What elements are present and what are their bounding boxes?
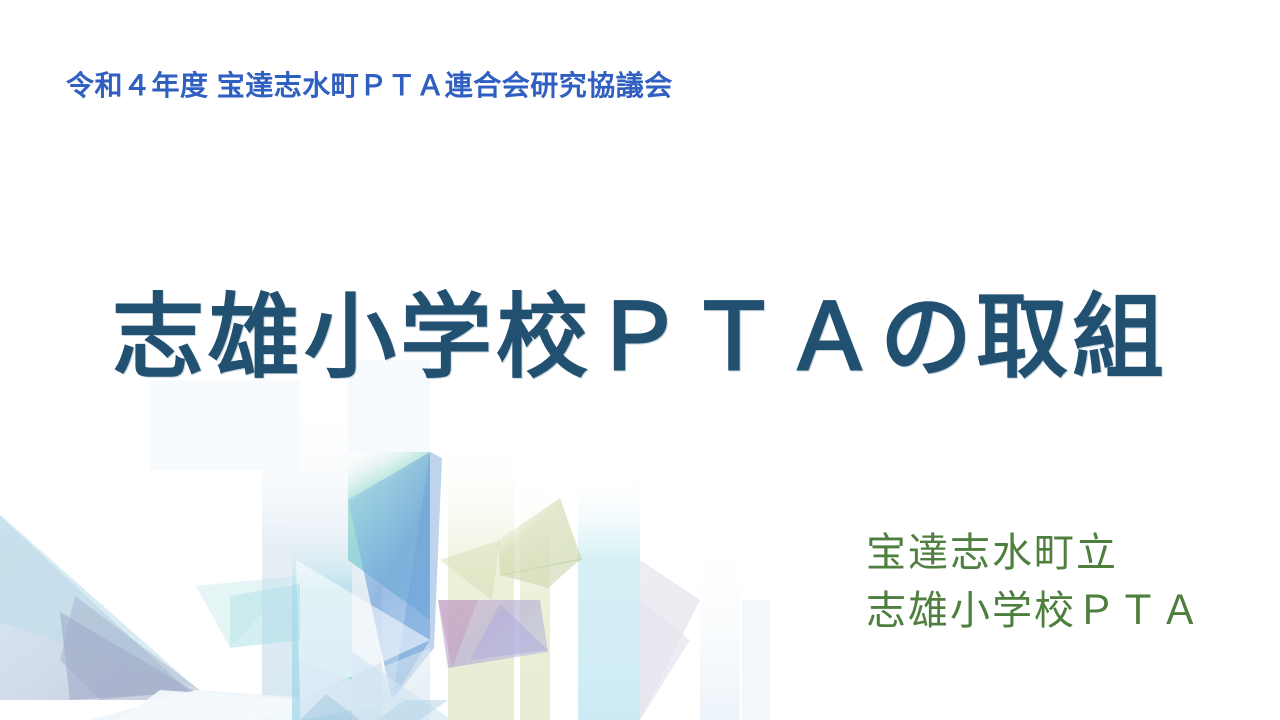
affiliation-block: 宝達志水町立 志雄小学校ＰＴＡ <box>866 524 1202 640</box>
affiliation-line-2: 志雄小学校ＰＴＡ <box>866 582 1202 640</box>
slide-content: 令和４年度 宝達志水町ＰＴＡ連合会研究協議会 志雄小学校ＰＴＡの取組 宝達志水町… <box>0 0 1280 720</box>
title-slide: 令和４年度 宝達志水町ＰＴＡ連合会研究協議会 志雄小学校ＰＴＡの取組 宝達志水町… <box>0 0 1280 720</box>
event-subtitle: 令和４年度 宝達志水町ＰＴＡ連合会研究協議会 <box>66 68 673 103</box>
page-title: 志雄小学校ＰＴＡの取組 <box>0 288 1280 389</box>
affiliation-line-1: 宝達志水町立 <box>866 524 1202 582</box>
